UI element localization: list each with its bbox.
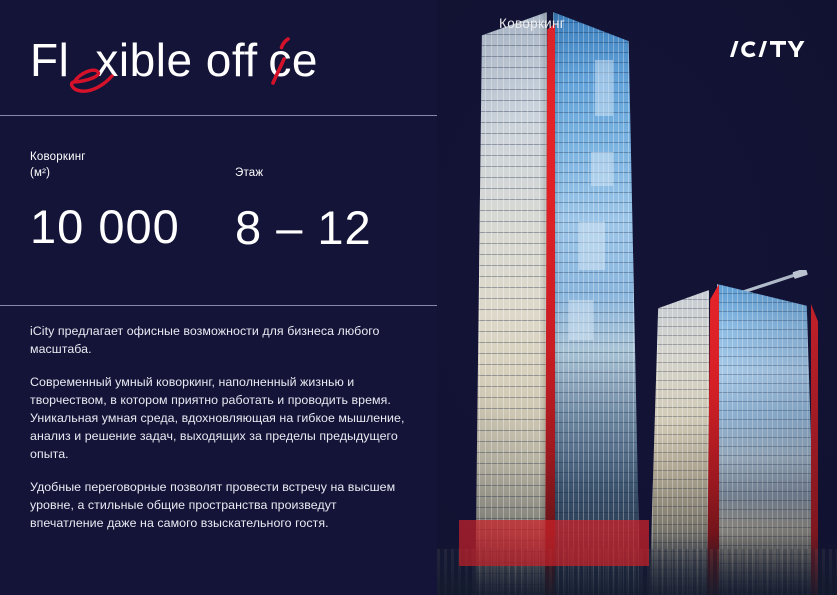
horizontal-divider-lower [0, 305, 437, 306]
paragraph-3: Удобные переговорные позволят провести в… [30, 478, 408, 532]
stat-coworking: Коворкинг(м²) 10 000 [30, 150, 235, 251]
title-segment-3: ce [268, 34, 318, 86]
title-segment-2: xible off [95, 34, 257, 86]
paragraph-2: Современный умный коворкинг, наполненный… [30, 373, 408, 463]
page-title: Flexible office [30, 24, 318, 96]
icity-logo-icon [728, 38, 810, 62]
stat-floor: Этаж 8 – 12 [235, 150, 372, 251]
stat-coworking-unit: (м²) [30, 167, 50, 179]
stat-coworking-value: 10 000 [30, 203, 235, 250]
stat-floor-label: Этаж [235, 150, 372, 182]
description-block: iCity предлагает офисные возможности для… [30, 322, 408, 532]
left-content-panel: Flexible office Коворки [0, 0, 437, 595]
presentation-slide: Flexible office Коворки [0, 0, 837, 595]
facade-light-panel [591, 152, 613, 186]
stat-coworking-label: Коворкинг(м²) [30, 150, 235, 181]
main-tower-building [473, 12, 641, 595]
horizontal-divider-upper [0, 115, 437, 116]
building-photo-panel: Коворкинг [437, 0, 837, 595]
stat-coworking-title: Коворкинг [30, 151, 86, 163]
title-segment-1: Fl [30, 34, 69, 86]
facade-light-panel [579, 222, 605, 270]
icity-logo [728, 38, 810, 62]
paragraph-1: iCity предлагает офисные возможности для… [30, 322, 408, 358]
facade-light-panel [595, 60, 613, 116]
coworking-band-label: Коворкинг [437, 0, 627, 46]
stats-row: Коворкинг(м²) 10 000 Этаж 8 – 12 [30, 150, 372, 251]
tower-facade-left [473, 12, 547, 595]
coworking-highlight-band [459, 520, 649, 566]
facade-light-panel [569, 300, 593, 340]
stat-floor-value: 8 – 12 [235, 204, 372, 251]
title-text: Flexible office [30, 37, 318, 83]
